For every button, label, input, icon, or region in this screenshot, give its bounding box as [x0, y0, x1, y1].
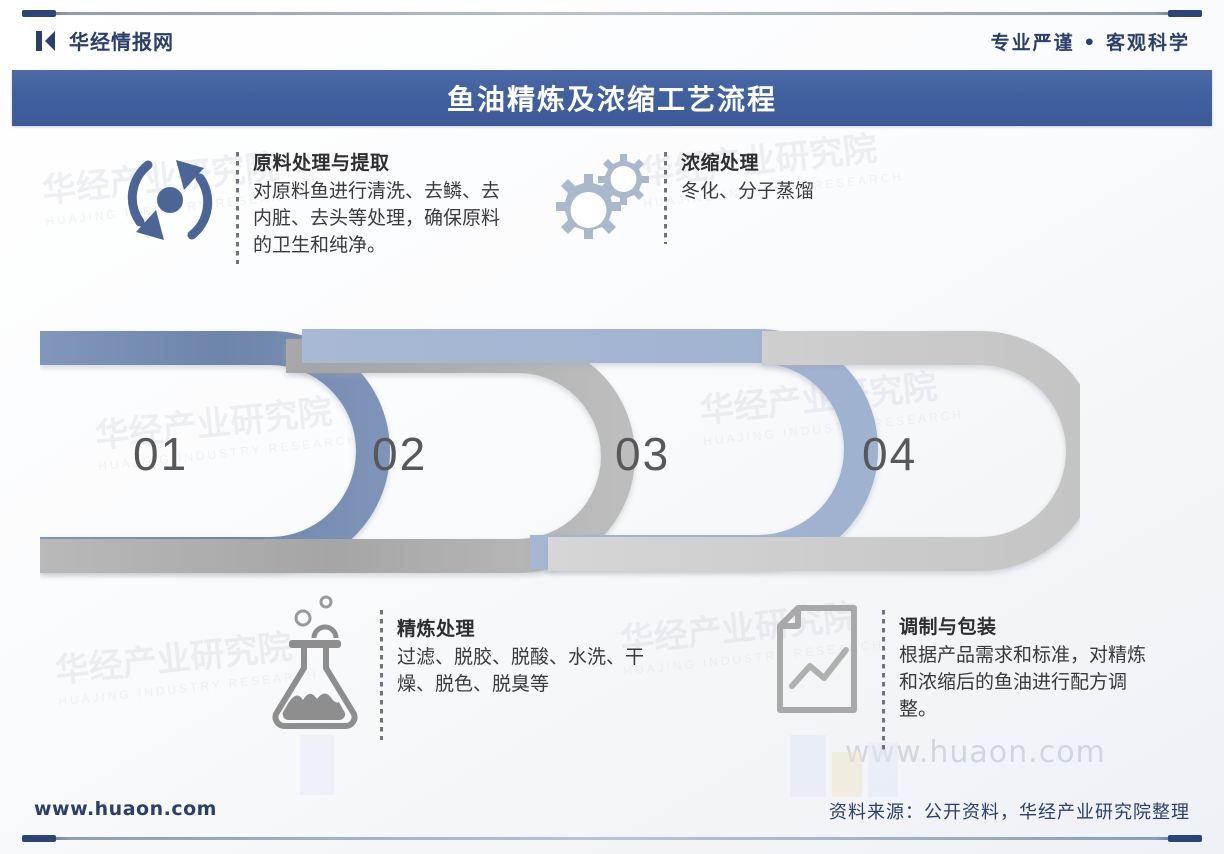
step-text-03: 浓缩处理 冬化、分子蒸馏 — [681, 148, 921, 205]
step-title-02: 精炼处理 — [397, 614, 647, 641]
step-text-04: 调制与包装 根据产品需求和标准，对精炼和浓缩后的鱼油进行配方调整。 — [899, 604, 1157, 723]
page-title: 鱼油精炼及浓缩工艺流程 — [447, 78, 777, 118]
step-info-02: 精炼处理 过滤、脱胶、脱酸、水洗、干燥、脱色、脱臭等 — [262, 592, 662, 740]
step-info-04: 调制与包装 根据产品需求和标准，对精炼和浓缩后的鱼油进行配方调整。 — [772, 604, 1182, 750]
step-text-02: 精炼处理 过滤、脱胶、脱酸、水洗、干燥、脱色、脱臭等 — [397, 592, 647, 698]
flow-segment-01 — [40, 348, 373, 554]
step-info-03: 浓缩处理 冬化、分子蒸馏 — [540, 148, 960, 252]
infographic-page: 华经产业研究院 HUAJING INDUSTRY RESEARCH 华经产业研究… — [0, 0, 1224, 854]
step-text-01: 原料处理与提取 对原料鱼进行清洗、去鳞、去内脏、去头等处理，确保原料的卫生和纯净… — [253, 148, 518, 259]
document-chart-icon — [772, 604, 868, 716]
serpentine-svg — [40, 318, 1080, 586]
dotted-divider — [236, 152, 239, 264]
step-desc-03: 冬化、分子蒸馏 — [681, 178, 921, 205]
step-desc-02: 过滤、脱胶、脱酸、水洗、干燥、脱色、脱臭等 — [397, 644, 647, 698]
top-divider-rule — [22, 12, 1202, 15]
page-header: 华经情报网 专业严谨 • 客观科学 — [0, 22, 1224, 68]
step-info-01: 原料处理与提取 对原料鱼进行清洗、去鳞、去内脏、去头等处理，确保原料的卫生和纯净… — [118, 148, 518, 264]
step-number-02: 02 — [372, 427, 427, 481]
watermark-bar — [300, 735, 334, 795]
step-title-04: 调制与包装 — [899, 612, 1157, 639]
step-number-01: 01 — [133, 427, 188, 481]
flask-icon — [262, 592, 366, 732]
rule-cap-left — [22, 835, 56, 842]
header-slogan: 专业严谨 • 客观科学 — [991, 28, 1190, 55]
dotted-divider — [380, 610, 383, 740]
brand-name: 华经情报网 — [69, 26, 174, 55]
dotted-divider — [664, 152, 667, 244]
play-pause-logo-icon — [34, 29, 58, 53]
brand: 华经情报网 — [34, 26, 174, 55]
footer-source: 资料来源：公开资料，华经产业研究院整理 — [829, 798, 1190, 824]
step-desc-04: 根据产品需求和标准，对精炼和浓缩后的鱼油进行配方调整。 — [899, 642, 1157, 723]
gears-icon — [540, 148, 650, 252]
bottom-divider-rule — [22, 837, 1202, 840]
rule-cap-left — [22, 10, 56, 17]
footer-url[interactable]: www.huaon.com — [34, 798, 217, 820]
page-footer: www.huaon.com 资料来源：公开资料，华经产业研究院整理 — [0, 798, 1224, 824]
step-number-03: 03 — [615, 427, 670, 481]
serpentine-flow-graphic — [40, 318, 1080, 586]
dotted-divider — [882, 610, 885, 750]
step-title-01: 原料处理与提取 — [253, 148, 518, 175]
title-banner: 鱼油精炼及浓缩工艺流程 — [12, 70, 1212, 126]
step-title-03: 浓缩处理 — [681, 148, 921, 175]
cycle-arrows-icon — [118, 148, 222, 252]
rule-cap-right — [1168, 10, 1202, 17]
step-number-04: 04 — [862, 427, 917, 481]
rule-cap-right — [1168, 835, 1202, 842]
step-desc-01: 对原料鱼进行清洗、去鳞、去内脏、去头等处理，确保原料的卫生和纯净。 — [253, 178, 518, 259]
watermark-bar — [868, 742, 898, 797]
watermark-bar — [832, 752, 862, 797]
